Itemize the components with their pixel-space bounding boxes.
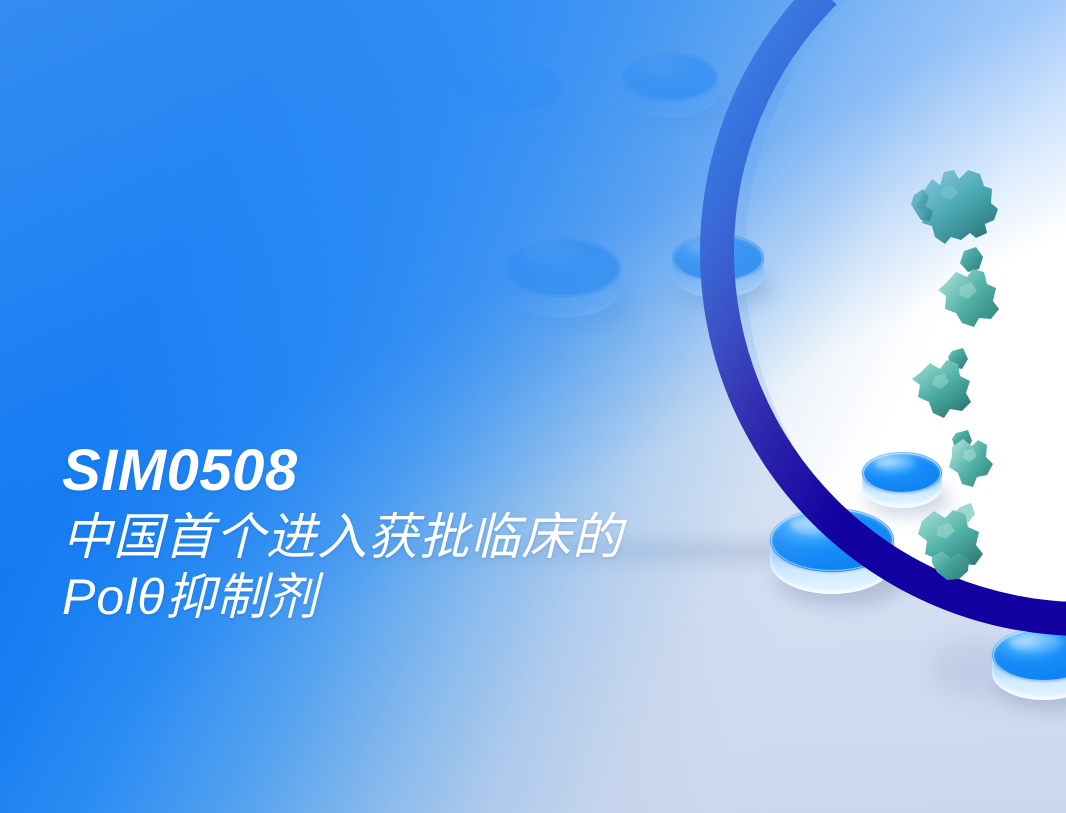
- banner-stage: SIM0508 中国首个进入获批临床的 Polθ抑制剂: [0, 0, 1066, 813]
- headline-block: SIM0508 中国首个进入获批临床的 Polθ抑制剂: [62, 440, 882, 626]
- subtitle-line-2: Polθ抑制剂: [62, 568, 882, 626]
- brand-name: SIM0508: [62, 440, 882, 502]
- blue-gradient-overlay-secondary: [0, 0, 1066, 813]
- subtitle-line-1: 中国首个进入获批临床的: [62, 508, 882, 566]
